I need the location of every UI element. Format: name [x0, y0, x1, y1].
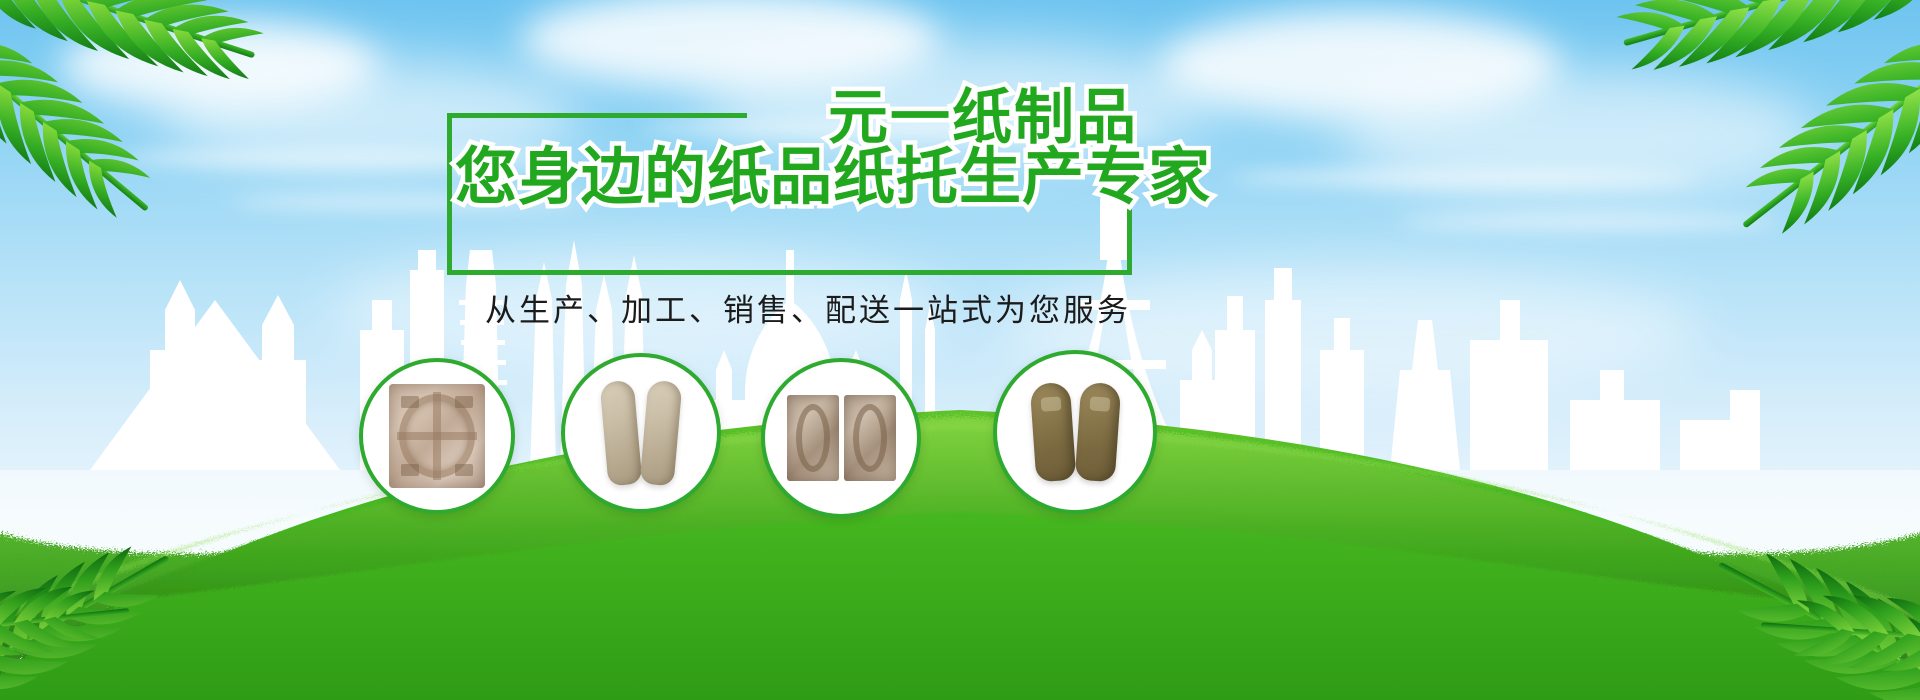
brand-name: 元一纸制品 — [828, 85, 1138, 151]
product-circle-pulp-tray-pair[interactable] — [761, 358, 921, 518]
headline-slogan: 您身边的纸品纸托生产专家 — [455, 143, 1211, 213]
paper-shoe-tree-image — [604, 381, 678, 485]
frame-line-top — [447, 113, 747, 118]
product-circle-paper-shoe-tree[interactable] — [561, 353, 721, 513]
square-pulp-tray-image — [389, 384, 485, 488]
product-circle-paper-insole[interactable] — [993, 350, 1157, 514]
pulp-tray-pair-image — [787, 395, 896, 481]
paper-insole-image — [1033, 383, 1118, 481]
subtitle-text: 从生产、加工、销售、配送一站式为您服务 — [485, 285, 1125, 330]
promo-banner: 元一纸制品 您身边的纸品纸托生产专家 从生产、加工、销售、配送一站式为您服务 — [0, 0, 1920, 700]
grass-hill — [0, 280, 1920, 700]
frame-line-left — [447, 113, 452, 275]
headline-block: 元一纸制品 您身边的纸品纸托生产专家 — [447, 95, 1132, 275]
frame-line-bottom — [447, 270, 1132, 275]
product-circle-square-pulp-tray[interactable] — [359, 358, 515, 514]
